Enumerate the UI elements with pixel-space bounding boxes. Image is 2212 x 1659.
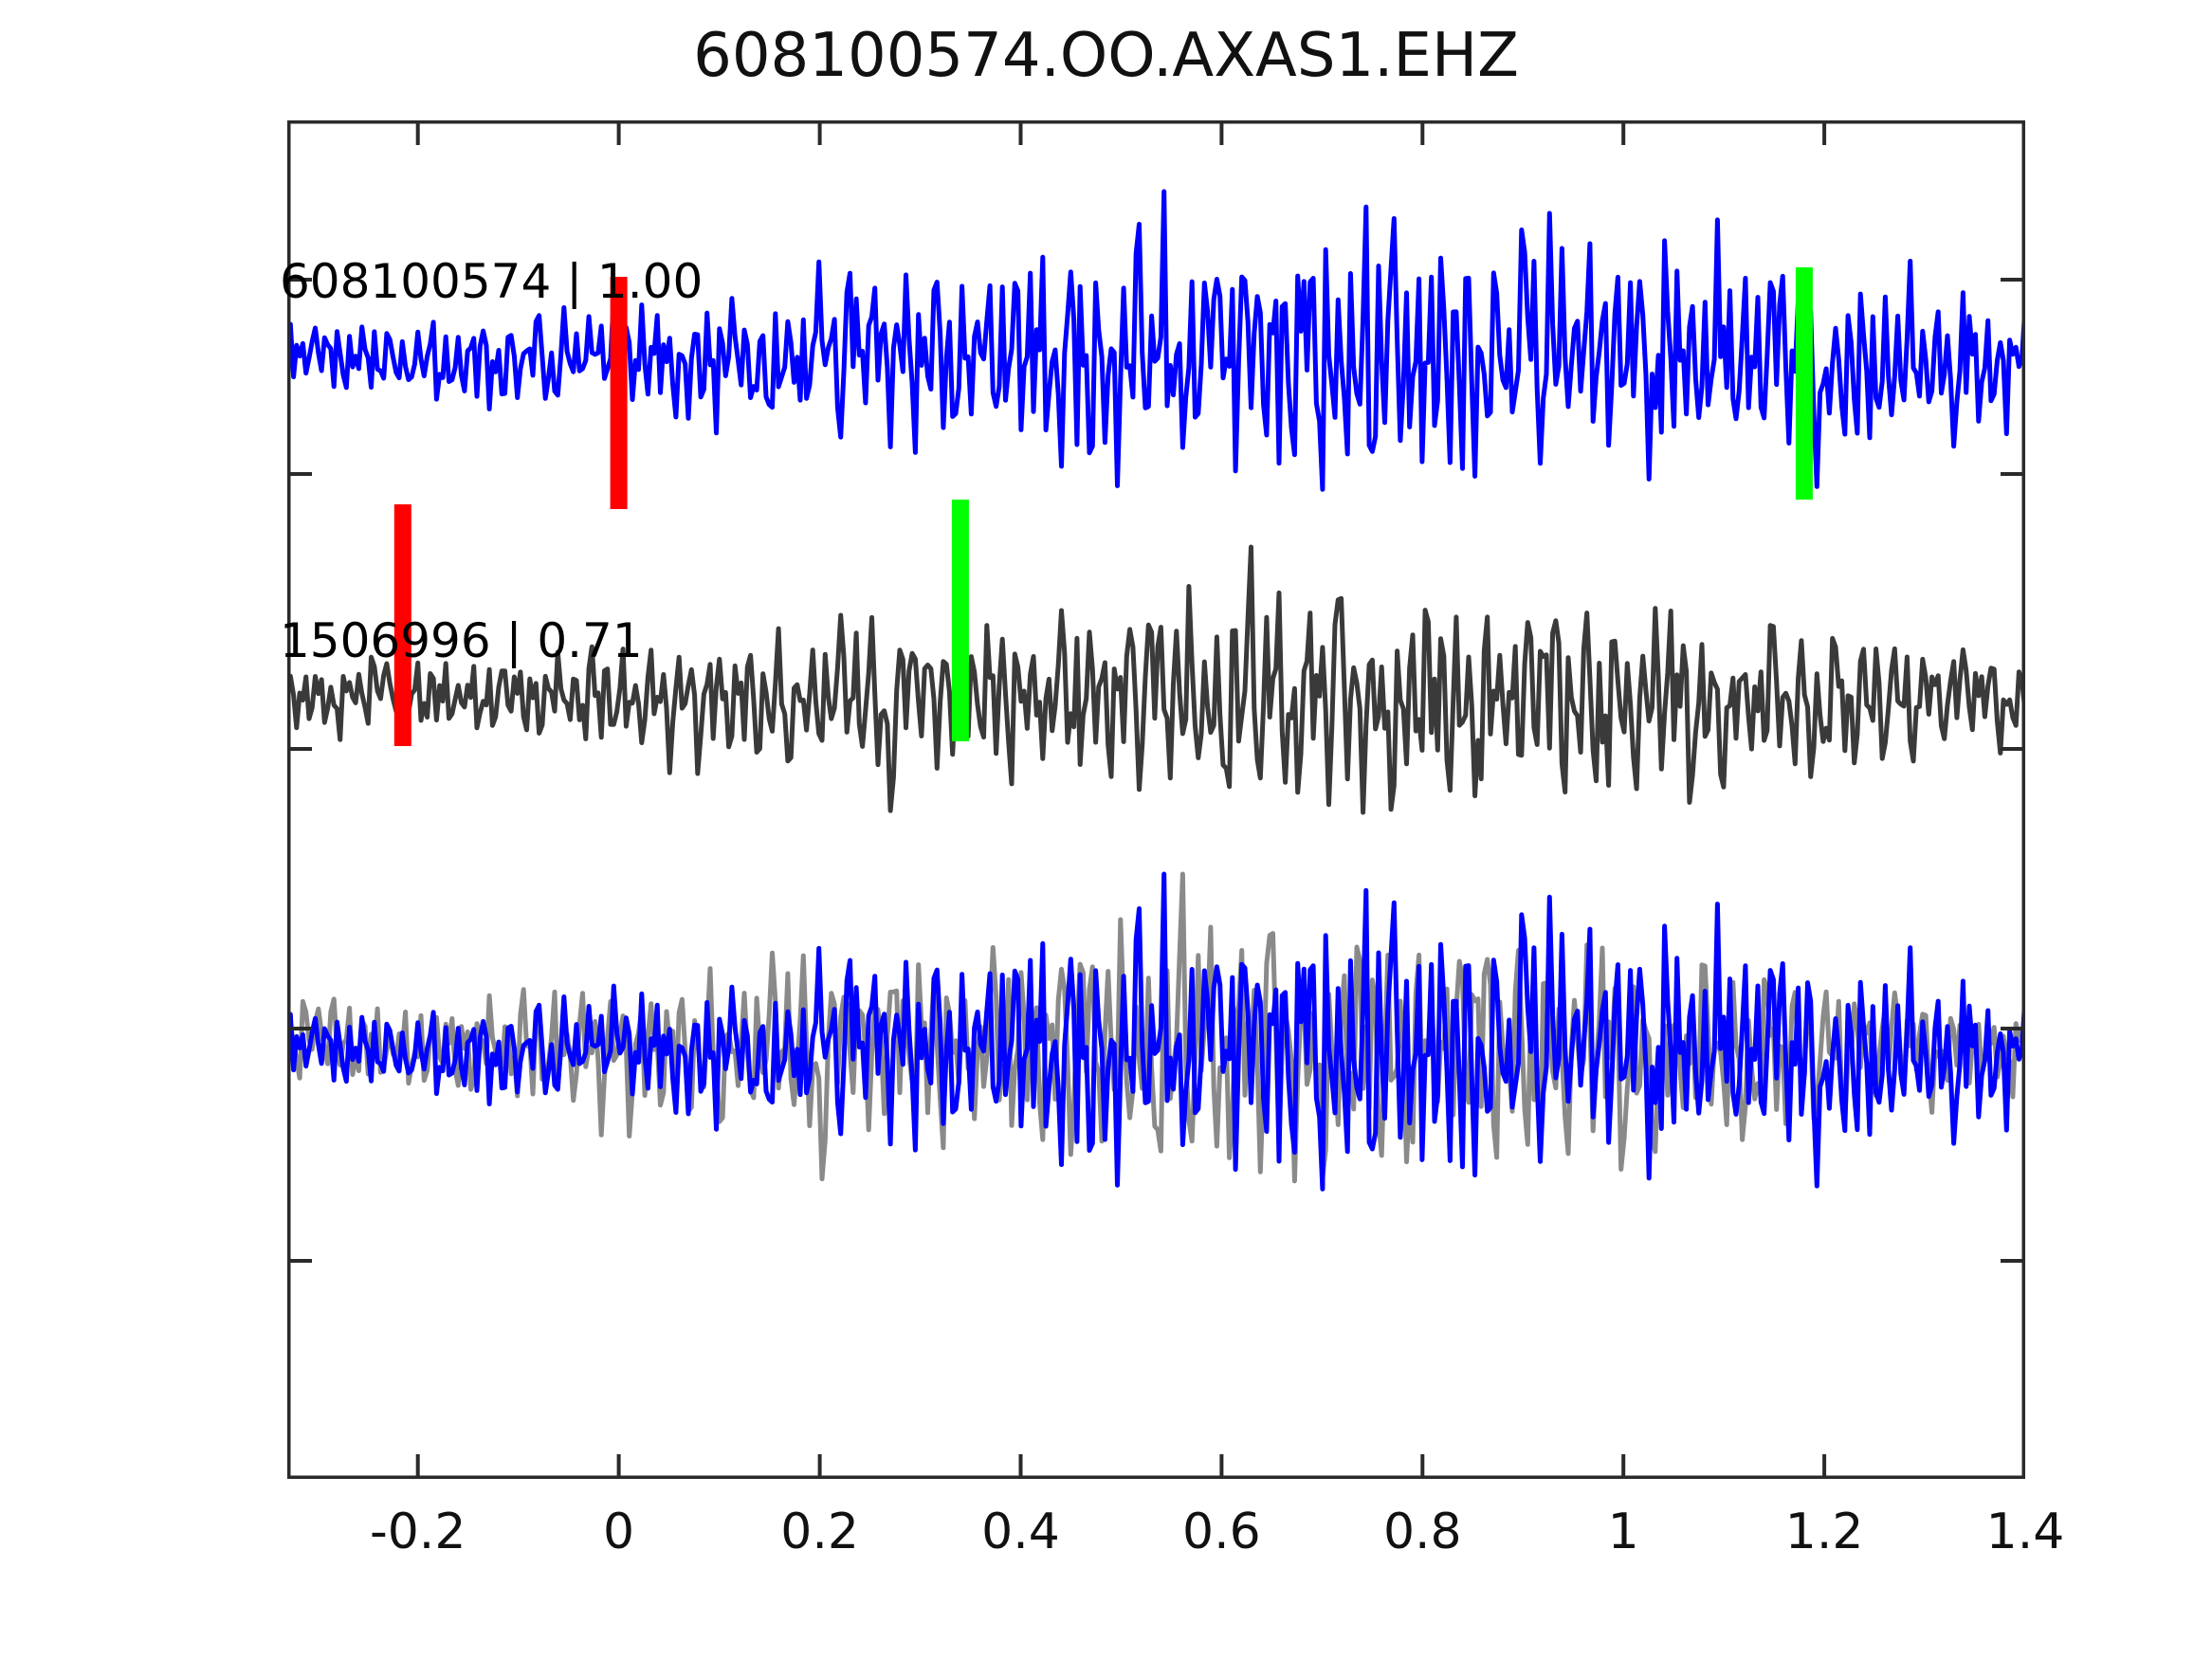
pick-green-middle <box>952 500 969 741</box>
x-tick-label: 1 <box>1608 1504 1639 1560</box>
x-axis-tick-labels: -0.200.20.40.60.811.21.4 <box>287 1504 2025 1579</box>
waveform-canvas <box>287 120 2025 1479</box>
x-tick-label: 0.6 <box>1182 1504 1261 1560</box>
pick-green-top <box>1796 267 1813 500</box>
x-tick-label: 0.8 <box>1383 1504 1462 1560</box>
trace-label-top: 608100574 | 1.00 <box>280 254 703 309</box>
x-tick-label: 0 <box>603 1504 634 1560</box>
x-tick-label: 1.4 <box>1986 1504 2065 1560</box>
pick-red-top <box>611 277 628 509</box>
plot-area: 608100574 | 1.00 1506996 | 0.71 <box>287 120 2025 1479</box>
x-tick-label: 0.2 <box>780 1504 859 1560</box>
x-tick-label: 1.2 <box>1785 1504 1864 1560</box>
x-tick-label: 0.4 <box>981 1504 1060 1560</box>
figure-root: 608100574.OO.AXAS1.EHZ 608100574 | 1.00 … <box>0 0 2212 1659</box>
x-tick-label: -0.2 <box>370 1504 466 1560</box>
trace-label-middle: 1506996 | 0.71 <box>280 613 643 668</box>
page-title: 608100574.OO.AXAS1.EHZ <box>0 21 2212 91</box>
plot-background <box>287 120 2025 1479</box>
